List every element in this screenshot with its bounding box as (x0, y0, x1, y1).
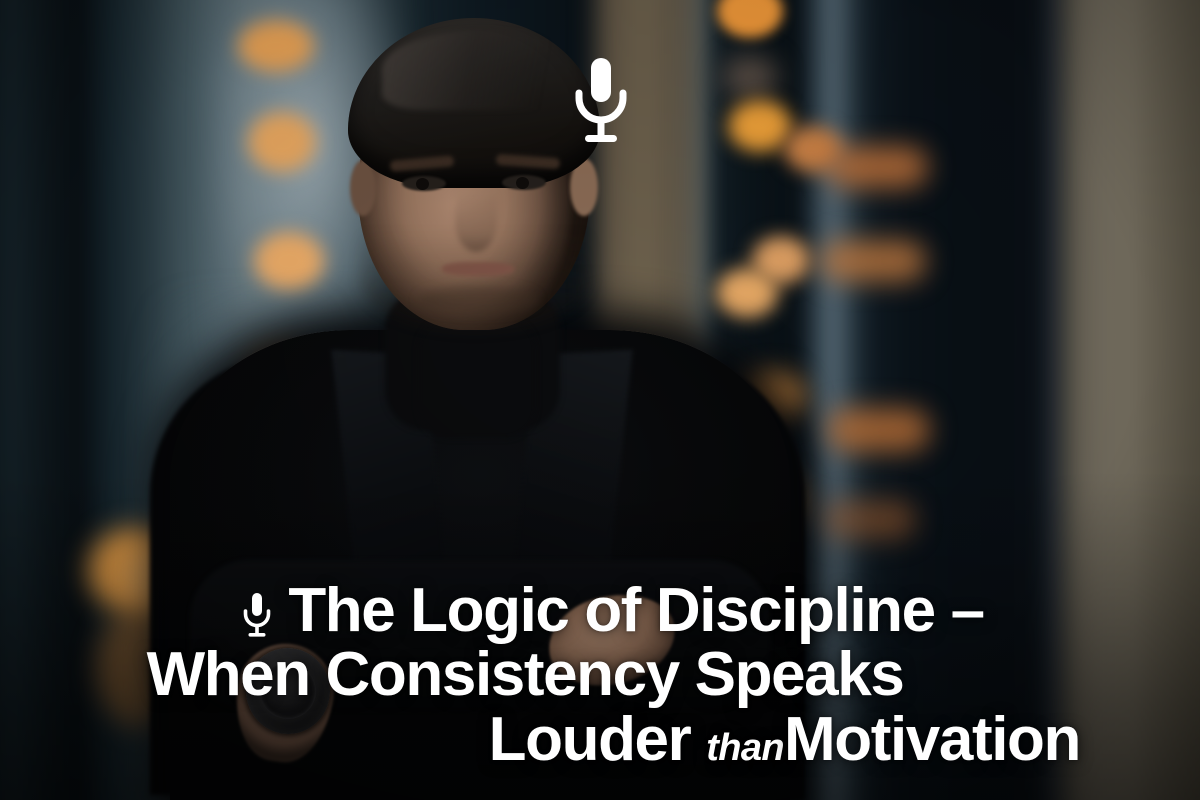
chin-shadow (418, 286, 538, 314)
subject-pupil-left (416, 178, 429, 190)
turtleneck-collar (418, 318, 536, 438)
title-line-1: The Logic of Discipline – (24, 579, 1176, 643)
microphone-icon (242, 592, 272, 640)
bokeh-light (826, 146, 928, 188)
bokeh-light (826, 408, 930, 452)
bokeh-light (820, 500, 916, 540)
title-line-3-main: Louder (489, 705, 707, 774)
microphone-icon (572, 56, 630, 148)
subject-mouth (442, 262, 514, 276)
title-line-3-tail: Motivation (784, 705, 1080, 774)
title-line-3-emphasis: than (706, 727, 784, 769)
subject-nose (455, 190, 497, 252)
title-line-1-text: The Logic of Discipline – (288, 576, 983, 645)
title-line-3: Louder thanMotivation (24, 708, 1176, 772)
episode-title-block: The Logic of Discipline – When Consisten… (0, 579, 1200, 772)
bokeh-light (820, 240, 926, 282)
subject-pupil-right (516, 177, 529, 189)
hair-highlight (382, 30, 582, 110)
title-line-2: When Consistency Speaks (24, 643, 1176, 707)
title-line-2-text: When Consistency Speaks (147, 640, 904, 709)
podcast-cover-canvas: The Logic of Discipline – When Consisten… (0, 0, 1200, 800)
